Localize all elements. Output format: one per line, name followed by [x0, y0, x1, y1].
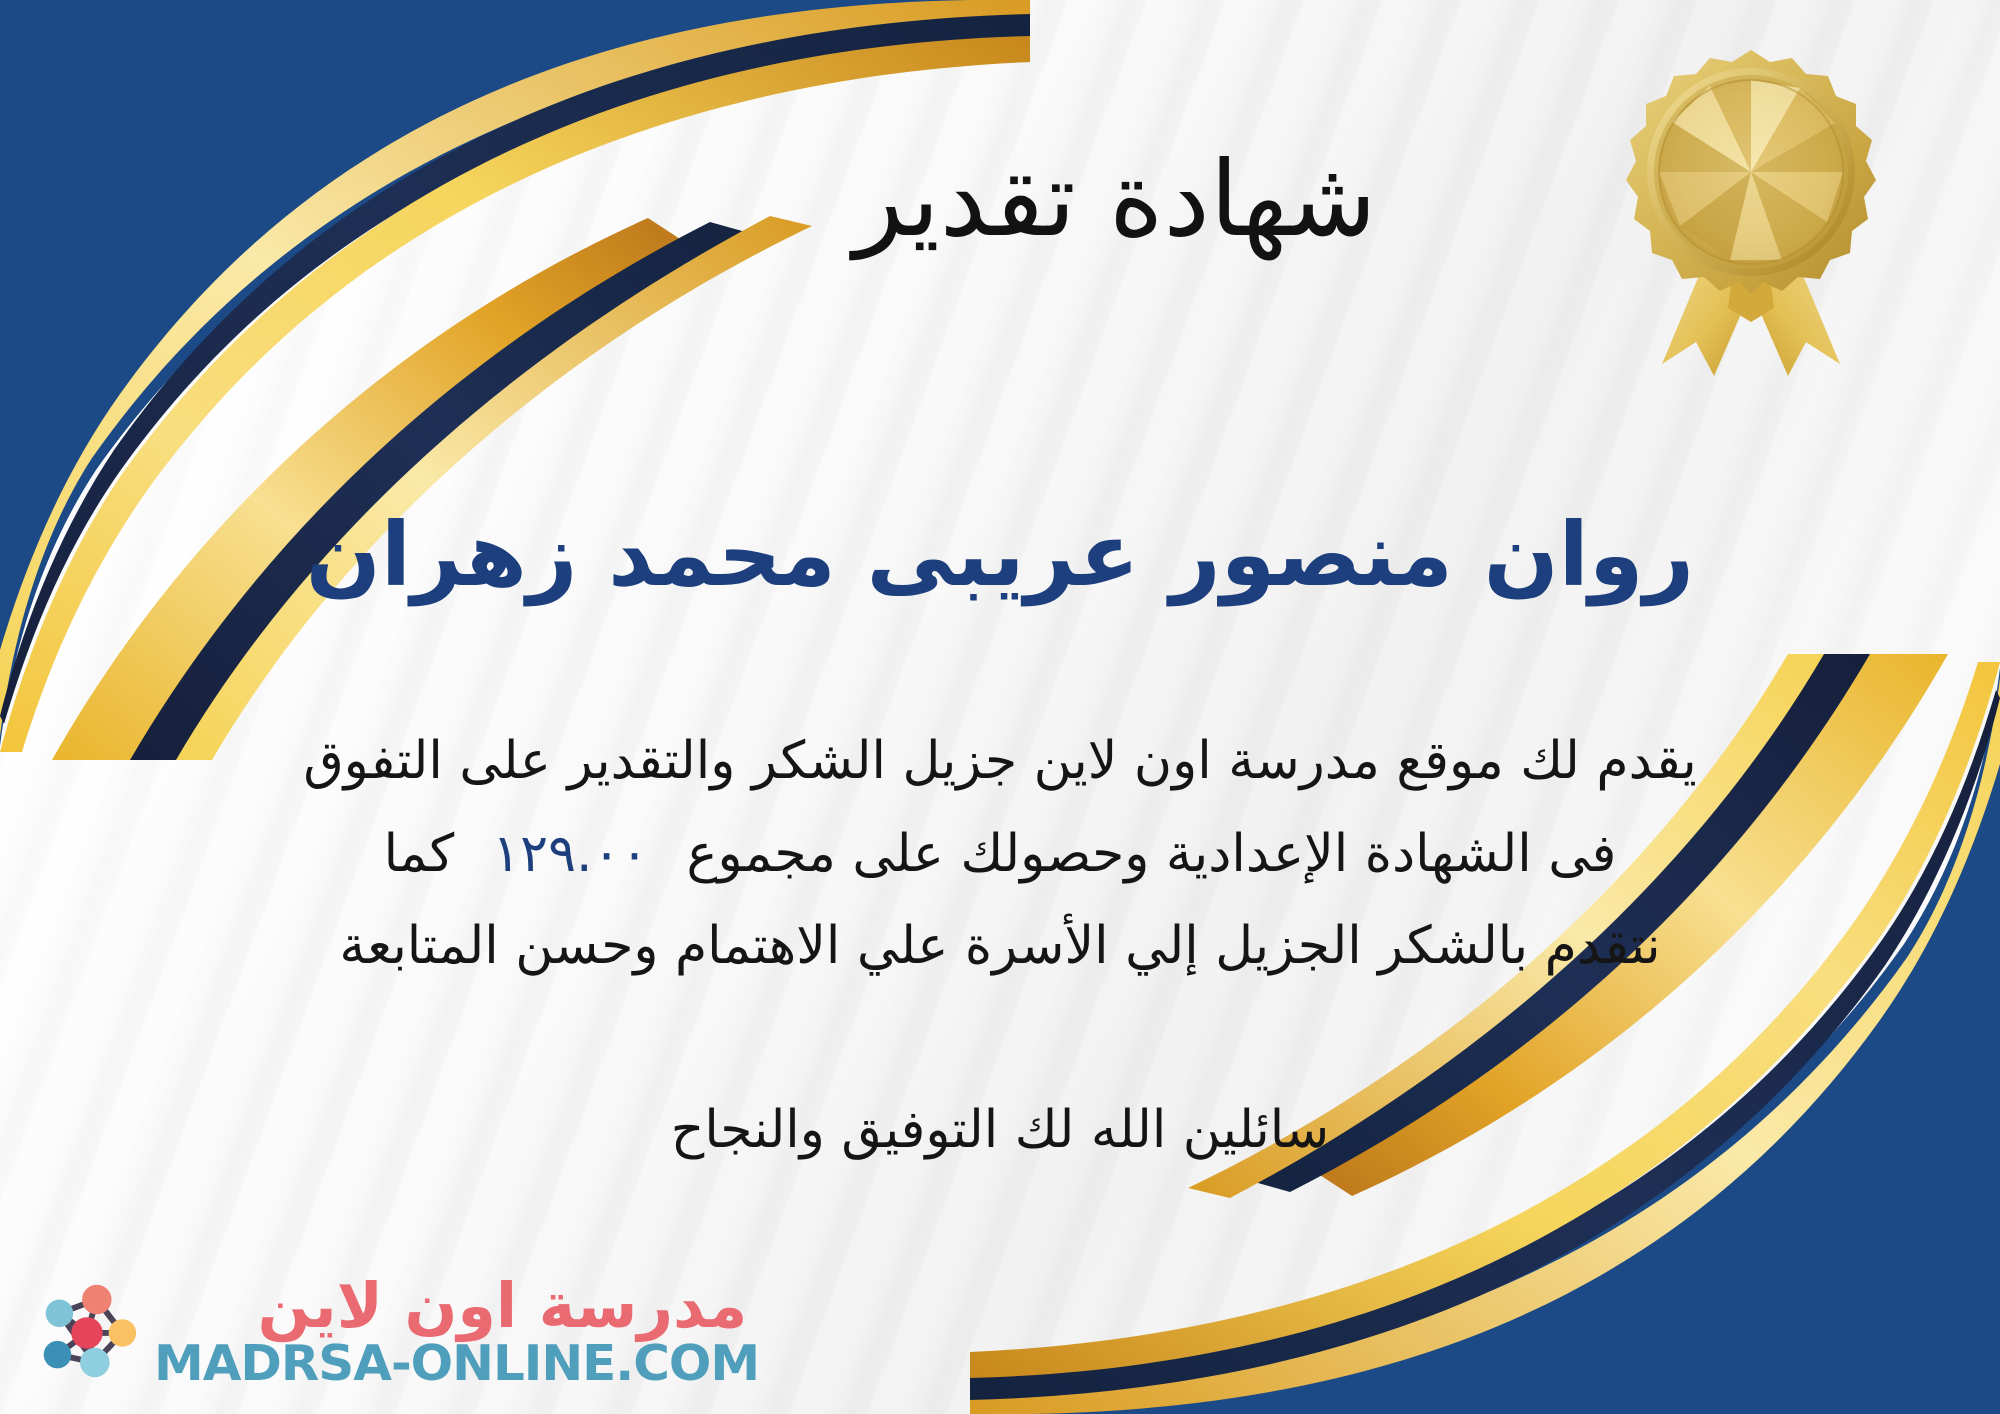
node-dark-teal	[44, 1341, 72, 1369]
certificate-content: شهادة تقدير روان منصور عريبى محمد زهران …	[0, 0, 2000, 1414]
body-line-2: فى الشهادة الإعدادية وحصولك على مجموع١٢٩…	[70, 808, 1930, 901]
network-nodes-icon	[26, 1272, 144, 1390]
body-line-2-suffix: كما	[384, 824, 455, 884]
brand-text-block: مدرسة اون لاين MADRSA-ONLINE.COM	[154, 1275, 747, 1388]
brand-name-arabic: مدرسة اون لاين	[258, 1275, 748, 1337]
closing-line: سائلين الله لك التوفيق والنجاح	[0, 1100, 2000, 1160]
body-line-1: يقدم لك موقع مدرسة اون لاين جزيل الشكر و…	[70, 715, 1930, 808]
brand-logo[interactable]: مدرسة اون لاين MADRSA-ONLINE.COM	[26, 1272, 747, 1390]
certificate-title: شهادة تقدير	[0, 140, 2000, 260]
certificate-body: يقدم لك موقع مدرسة اون لاين جزيل الشكر و…	[70, 715, 1930, 993]
brand-website[interactable]: MADRSA-ONLINE.COM	[154, 1339, 759, 1388]
node-red-center	[71, 1317, 102, 1348]
recipient-name: روان منصور عريبى محمد زهران	[0, 500, 2000, 610]
grade-total-value: ١٢٩.٠٠	[454, 824, 686, 884]
body-line-3: نتقدم بالشكر الجزيل إلي الأسرة علي الاهت…	[70, 900, 1930, 993]
body-line-2-prefix: فى الشهادة الإعدادية وحصولك على مجموع	[686, 824, 1616, 884]
node-orange	[109, 1319, 137, 1347]
node-light-blue-top	[46, 1300, 74, 1328]
node-light-blue-bottom	[80, 1348, 110, 1378]
certificate-canvas: شهادة تقدير روان منصور عريبى محمد زهران …	[0, 0, 2000, 1414]
node-salmon	[82, 1285, 112, 1315]
